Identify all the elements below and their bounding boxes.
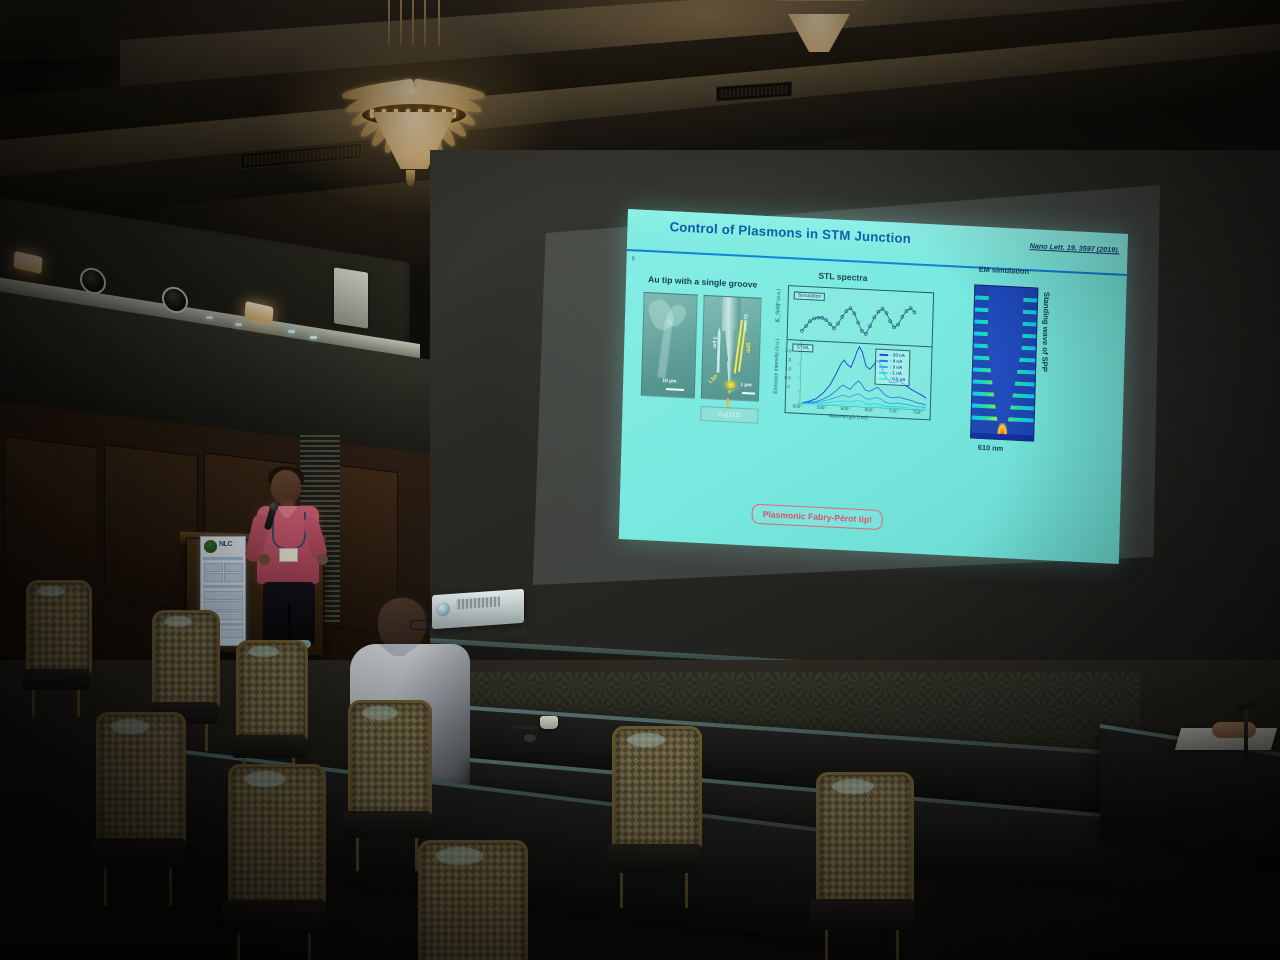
label-lsp: LSP (708, 374, 720, 385)
table-puck (524, 734, 536, 742)
chart-panel-simulation: Simulation (788, 286, 934, 347)
stl-spectra-chart: Simulation (785, 285, 935, 420)
paper-cup (540, 716, 558, 729)
simulation-trace (802, 303, 915, 337)
wavelength-label: 610 nm (978, 443, 1004, 453)
y-axis-title-stml: Emission intensity (a.u.) (773, 339, 781, 394)
x-tick: 550 (817, 405, 825, 410)
accent-light (206, 316, 213, 319)
y-axis-title-simulation: |E_field|² (a.u.) (775, 289, 782, 323)
banquet-chair (228, 764, 320, 948)
x-tick: 700 (889, 408, 897, 413)
presenter (243, 470, 339, 646)
legend-label: : 9 nA (890, 359, 902, 365)
legend-swatch (879, 354, 888, 356)
presenter-head (271, 470, 301, 504)
left-panel-heading: Au tip with a single groove (648, 274, 758, 289)
sem-image-low-mag: 10 µm (641, 292, 698, 399)
scale-bar (666, 388, 684, 391)
label-length-left: 3 µm (711, 336, 717, 348)
sem-image-high-mag: Groove SPP 3 µm LSP e⁻ 1 µm (701, 295, 762, 402)
scale-label: 1 µm (740, 382, 752, 389)
slide-page-number: 8 (632, 256, 635, 262)
accent-light (235, 323, 242, 326)
poster-logo-icon (204, 540, 217, 553)
presentation-slide: Control of Plasmons in STM Junction Nano… (619, 209, 1128, 564)
em-simulation-image (970, 284, 1038, 441)
middle-panel-heading: STL spectra (818, 271, 867, 283)
banquet-chair (236, 640, 302, 768)
x-tick: 600 (841, 406, 849, 411)
label-groove: Groove (742, 314, 748, 332)
chairperson-hand (1212, 722, 1256, 738)
banquet-chair (96, 712, 180, 882)
label-spp: SPP (744, 342, 750, 353)
conference-room-photo: Control of Plasmons in STM Junction Nano… (0, 0, 1280, 960)
x-tick: 750 (913, 410, 921, 415)
banquet-chair (612, 726, 696, 886)
chandelier-secondary (760, 0, 880, 72)
right-panel-heading: EM simulation (979, 265, 1029, 277)
scale-label: 10 µm (662, 378, 676, 385)
legend-label: : 0.5 nA (890, 377, 906, 383)
poster-title: NLC (219, 541, 232, 548)
wall-speaker (334, 267, 368, 328)
x-tick: 650 (865, 407, 873, 412)
banquet-chair (348, 700, 426, 850)
callout-fabry-perot: Plasmonic Fabry-Pérot tip! (751, 504, 883, 531)
scale-bar (742, 392, 755, 395)
name-badge (279, 548, 298, 562)
projection-screen: Control of Plasmons in STM Junction Nano… (520, 185, 1160, 585)
legend-swatch (879, 378, 888, 380)
banquet-chair (816, 772, 908, 944)
presenter-hand-left (259, 554, 270, 565)
legend-swatch (879, 372, 888, 374)
eyeglasses-icon (410, 620, 430, 630)
banquet-chair (418, 840, 522, 960)
chart-legend: : 20 nA : 9 nA : 3 nA : 1 nA : 0.5 nA (874, 348, 910, 386)
banquet-chair (26, 580, 86, 700)
legend-swatch (879, 360, 888, 362)
accent-light (310, 336, 317, 339)
simulation-markers (800, 301, 916, 338)
y-tick: 1.0 (785, 366, 792, 371)
presenter-hand-right (317, 554, 328, 565)
label-electron: e⁻ (728, 389, 734, 395)
legend-label: : 20 nA (890, 353, 905, 359)
legend-label: : 1 nA (890, 371, 902, 377)
x-tick: 500 (793, 404, 801, 409)
standing-wave-label: Standing wave of SPP (1040, 292, 1051, 372)
x-axis-title: Wavelength (nm) (828, 413, 867, 421)
legend-swatch (879, 366, 888, 368)
y-tick: 0 (787, 384, 790, 389)
chart-panel-stml: STML (786, 339, 932, 419)
y-tick: 2.0 (785, 348, 792, 353)
microphone-stand (1244, 708, 1248, 760)
y-tick: 0.5 (784, 375, 791, 380)
accent-light (288, 330, 295, 333)
legend-label: : 3 nA (890, 365, 902, 371)
lanyard (272, 512, 306, 550)
substrate-label: Ag(111) (700, 406, 758, 424)
y-tick: 1.5 (785, 357, 792, 362)
